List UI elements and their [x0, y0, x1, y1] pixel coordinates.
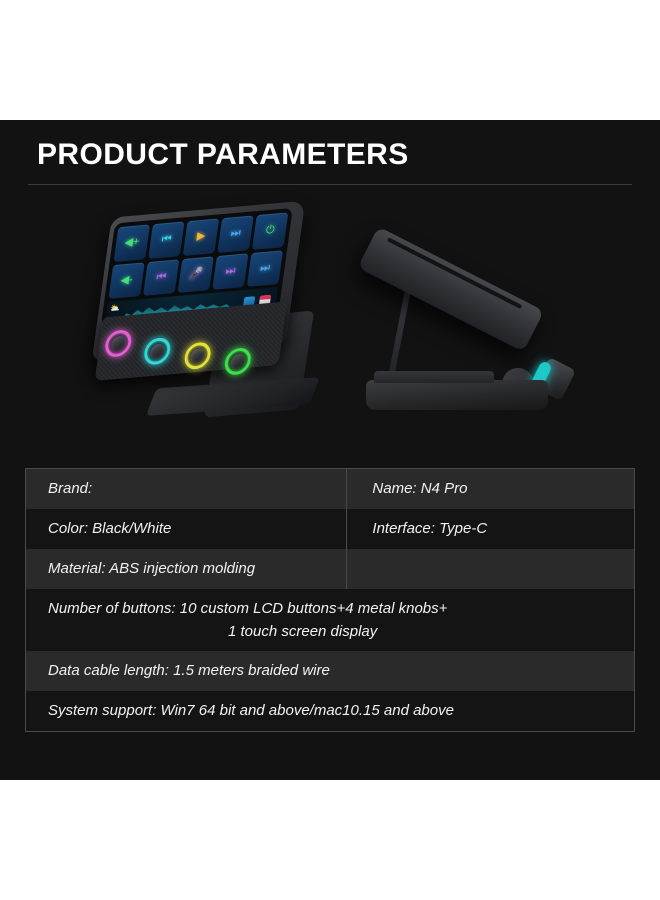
spec-brand-label: Brand: — [26, 469, 346, 509]
table-row: Brand: Name: N4 Pro — [26, 469, 634, 509]
page-title: PRODUCT PARAMETERS — [37, 138, 409, 172]
weather-widget-icon: ⛅ — [109, 304, 120, 313]
rewind-key: ⏮ — [143, 259, 179, 296]
product-side-view — [352, 216, 584, 438]
forward-key: ⏭ — [212, 253, 248, 290]
side-view-stand-leg — [387, 288, 411, 383]
knob-1 — [104, 329, 133, 358]
table-row: Data cable length: 1.5 meters braided wi… — [26, 651, 634, 691]
next-track-key: ⏭ — [217, 215, 253, 252]
previous-track-key: ⏮ — [148, 221, 184, 258]
table-row: Number of buttons: 10 custom LCD buttons… — [26, 589, 634, 651]
side-view-body — [358, 227, 545, 352]
product-front-view: ◀+ ⏮ ▶ ⏭ ⏻ ◀- ⏮ 🎤 ⏭ ⏭ ⛅ — [74, 186, 343, 463]
knob-3 — [183, 341, 212, 370]
skip-key: ⏭ — [247, 250, 283, 287]
volume-up-key: ◀+ — [114, 224, 150, 261]
volume-down-key: ◀- — [108, 262, 144, 299]
spec-buttons-line1: Number of buttons: 10 custom LCD buttons… — [48, 600, 447, 617]
table-row: Material: ABS injection molding — [26, 549, 634, 589]
table-row: Color: Black/White Interface: Type-C — [26, 509, 634, 549]
spec-name-value: Name: N4 Pro — [346, 469, 634, 509]
play-key: ▶ — [183, 218, 219, 255]
microphone-key: 🎤 — [178, 256, 214, 293]
knob-2 — [143, 337, 172, 366]
dark-content-panel: PRODUCT PARAMETERS ◀+ ⏮ ▶ ⏭ ⏻ ◀- ⏮ — [0, 120, 660, 780]
lcd-key-grid: ◀+ ⏮ ▶ ⏭ ⏻ ◀- ⏮ 🎤 ⏭ ⏭ — [108, 212, 288, 299]
spec-buttons-value: Number of buttons: 10 custom LCD buttons… — [26, 589, 634, 651]
power-key: ⏻ — [252, 212, 288, 249]
specification-table: Brand: Name: N4 Pro Color: Black/White I… — [25, 468, 635, 732]
spec-empty-cell — [346, 549, 634, 589]
table-row: System support: Win7 64 bit and above/ma… — [26, 691, 634, 731]
side-view-base — [366, 380, 548, 410]
spec-buttons-line2: 1 touch screen display — [48, 623, 634, 640]
spec-color-value: Color: Black/White — [26, 509, 346, 549]
title-divider — [28, 184, 632, 185]
product-image-stage: ◀+ ⏮ ▶ ⏭ ⏻ ◀- ⏮ 🎤 ⏭ ⏭ ⛅ — [0, 192, 660, 462]
spec-cable-length-value: Data cable length: 1.5 meters braided wi… — [26, 651, 634, 691]
spec-system-support-value: System support: Win7 64 bit and above/ma… — [26, 691, 634, 731]
product-parameters-page: PRODUCT PARAMETERS ◀+ ⏮ ▶ ⏭ ⏻ ◀- ⏮ — [0, 0, 660, 900]
spec-material-value: Material: ABS injection molding — [26, 549, 346, 589]
spec-interface-value: Interface: Type-C — [346, 509, 634, 549]
